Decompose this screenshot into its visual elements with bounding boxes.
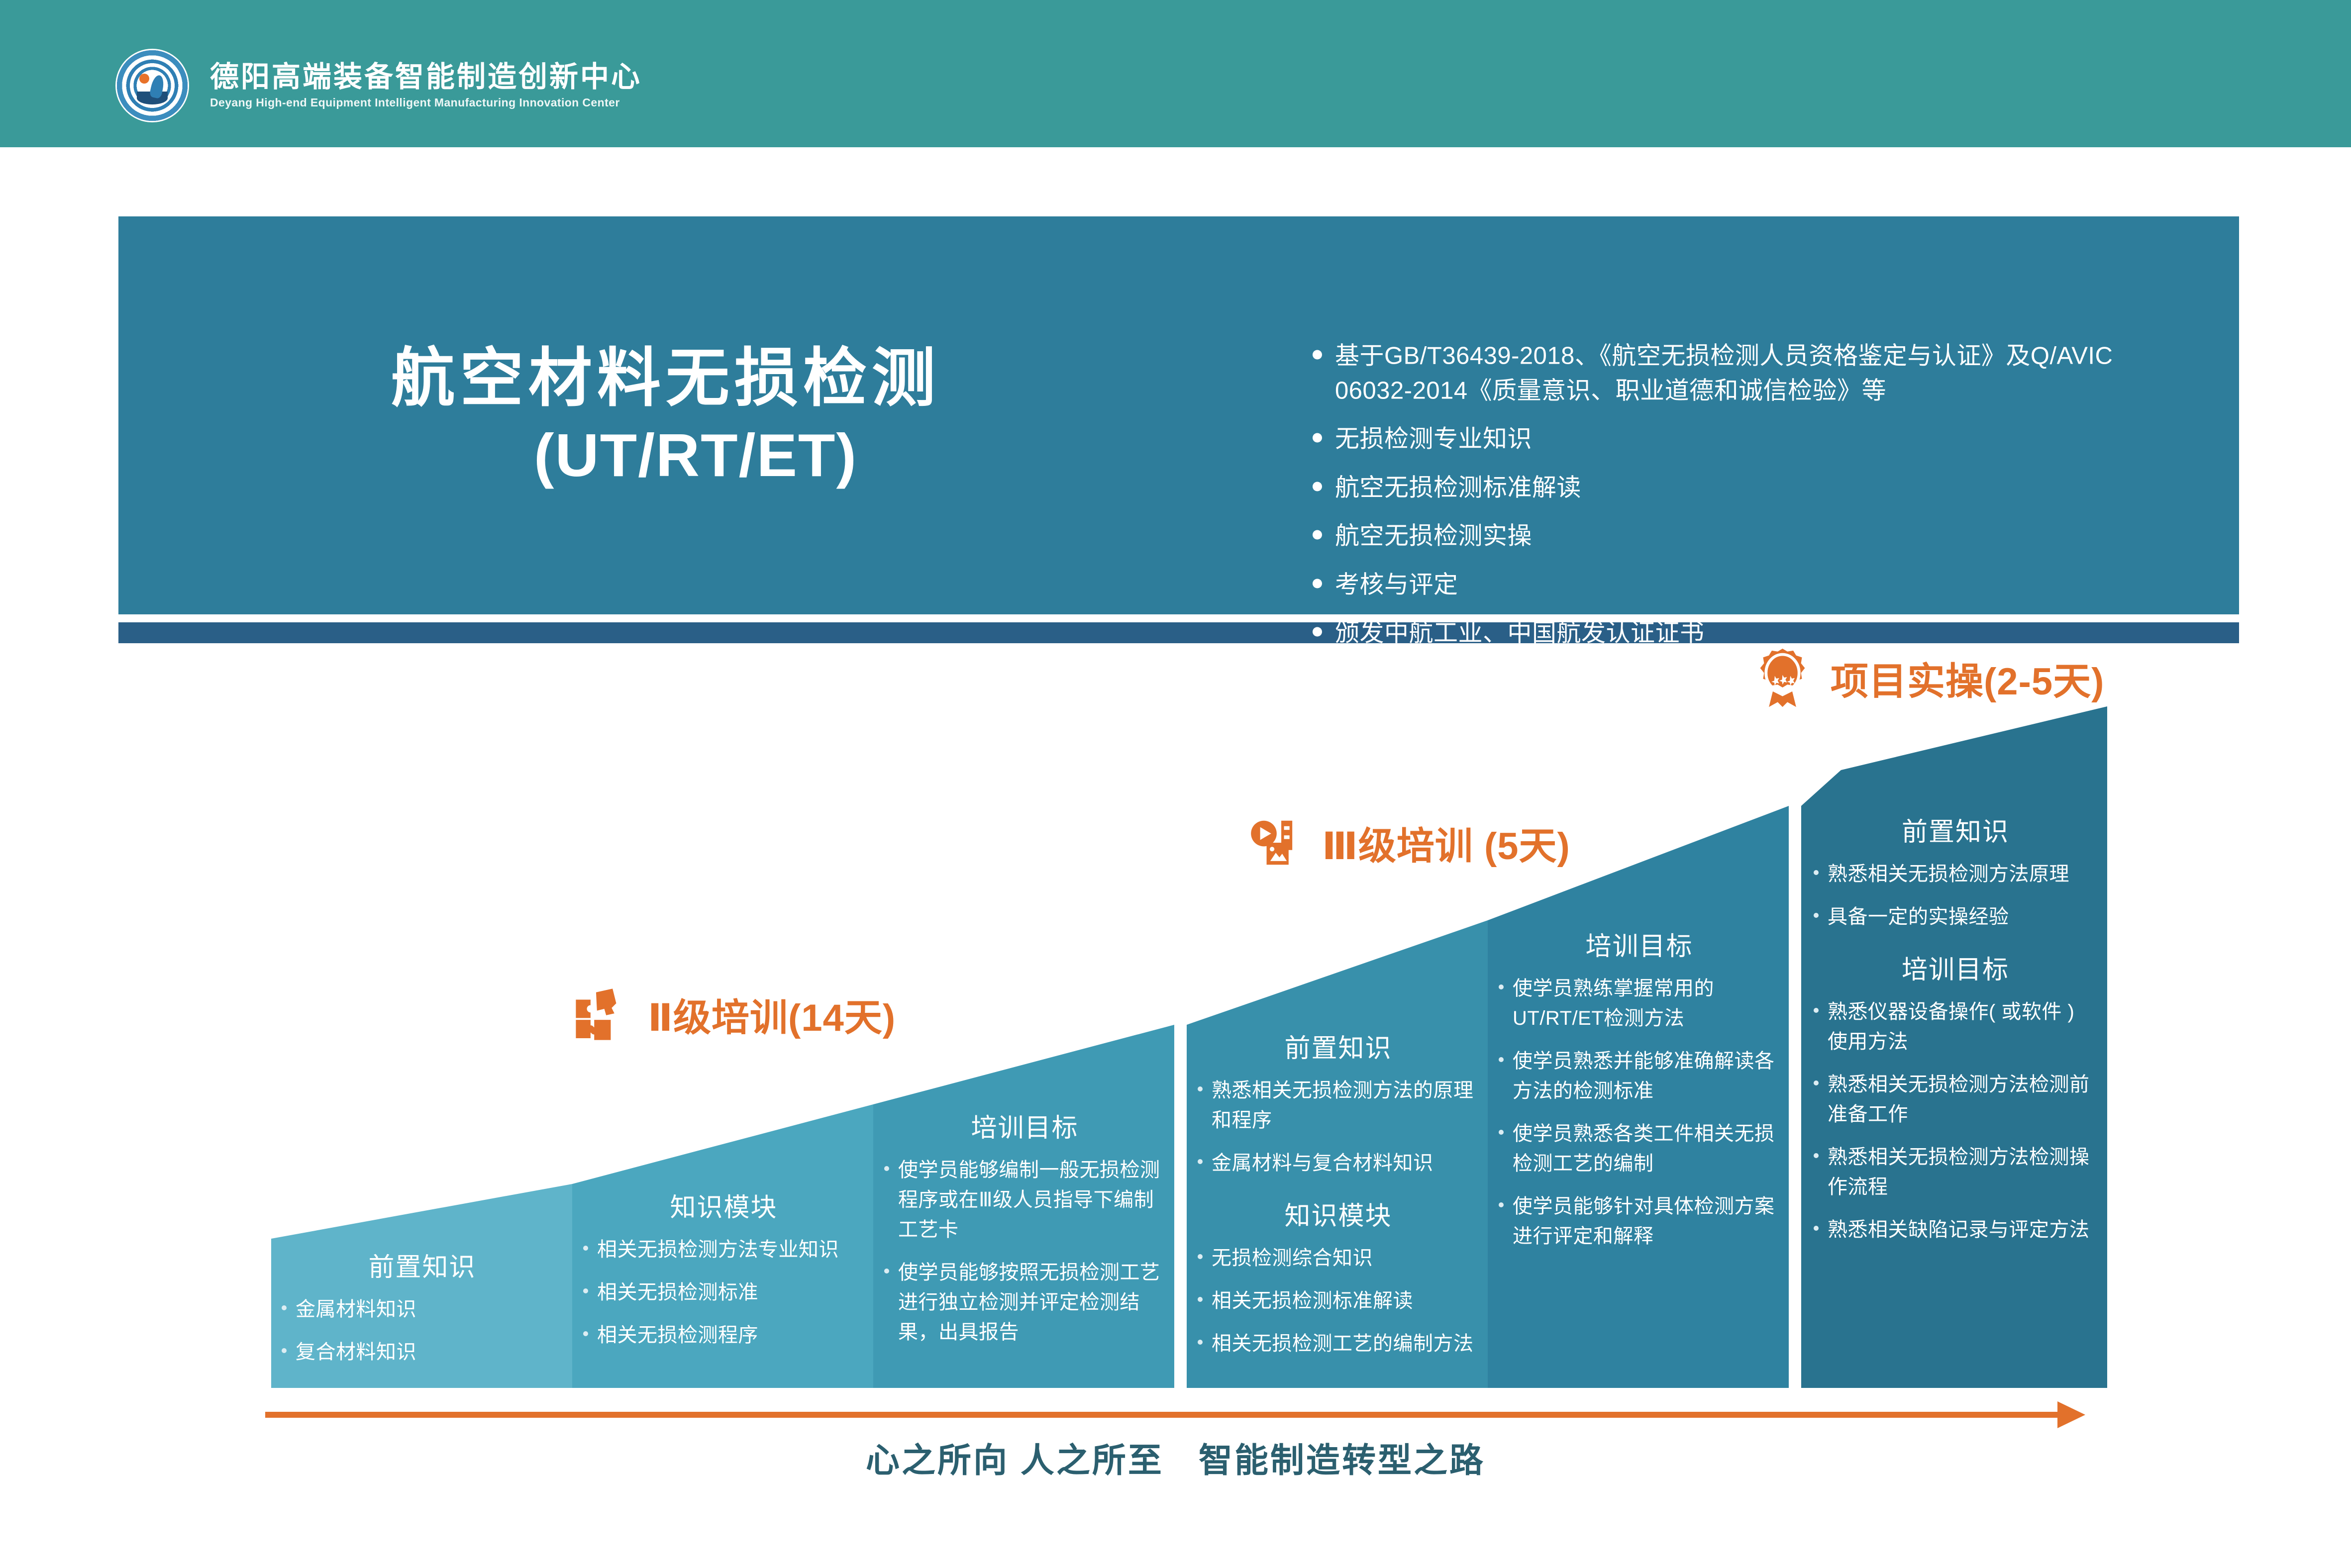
hero-title: 航空材料无损检测 — [391, 339, 940, 418]
panel-item-text: 熟悉相关无损检测方法原理 — [1828, 859, 2069, 889]
tagline-right: 智能制造转型之路 — [1199, 1442, 1485, 1479]
bullet-dot-icon — [1313, 433, 1322, 443]
panel-item-text: 使学员熟悉各类工件相关无损检测工艺的编制 — [1513, 1119, 1780, 1178]
hero-bullet-text: 考核与评定 — [1335, 568, 1458, 602]
header-brand: 德阳高端装备智能制造创新中心 Deyang High-end Equipment… — [115, 49, 642, 122]
list-item: 无损检测综合知识 — [1198, 1243, 1479, 1273]
list-item: 使学员熟练掌握常用的UT/RT/ET检测方法 — [1499, 974, 1780, 1033]
list-item: 相关无损检测标准 — [583, 1277, 864, 1307]
bullet-dot-icon — [583, 1331, 588, 1336]
bullet-dot-icon — [1198, 1086, 1203, 1091]
list-item: 熟悉相关无损检测方法的原理和程序 — [1198, 1076, 1479, 1135]
panel-item-text: 熟悉仪器设备操作( 或软件 ) 使用方法 — [1828, 997, 2097, 1057]
hero-bullet-text: 基于GB/T36439-2018、《航空无损检测人员资格鉴定与认证》及Q/AVI… — [1335, 339, 2188, 408]
bullet-dot-icon — [1814, 870, 1819, 875]
panel-item-text: 使学员熟练掌握常用的UT/RT/ET检测方法 — [1513, 974, 1780, 1033]
list-item: 使学员能够编制一般无损检测程序或在Ⅲ级人员指导下编制工艺卡 — [884, 1155, 1165, 1245]
panel-heading: 知识模块 — [583, 1186, 864, 1224]
bullet-dot-icon — [1198, 1297, 1203, 1302]
stage-label-text: 项目实操(2-5天) — [1831, 651, 2104, 705]
panel-heading: 前置知识 — [1198, 1027, 1479, 1065]
bullet-dot-icon — [1814, 1008, 1819, 1013]
list-item: 使学员熟悉各类工件相关无损检测工艺的编制 — [1499, 1119, 1780, 1178]
list-item: 金属材料与复合材料知识 — [1198, 1148, 1479, 1178]
panel-item-text: 相关无损检测标准解读 — [1212, 1286, 1413, 1316]
list-item: 熟悉相关无损检测方法检测前准备工作 — [1814, 1070, 2097, 1129]
panel-p2: 知识模块 相关无损检测方法专业知识 相关无损检测标准 相关无损检测程序 — [583, 1186, 864, 1350]
panel-item-text: 相关无损检测程序 — [597, 1320, 758, 1350]
list-item: 熟悉相关无损检测方法检测操作流程 — [1814, 1142, 2097, 1202]
list-item: 相关无损检测方法专业知识 — [583, 1235, 864, 1265]
panel-item-text: 无损检测综合知识 — [1212, 1243, 1373, 1273]
list-item: 无损检测专业知识 — [1313, 422, 2188, 457]
stage-label-project-practice: 项目实操(2-5天) — [1751, 647, 2104, 709]
bullet-dot-icon — [1499, 1130, 1504, 1135]
bullet-dot-icon — [1313, 350, 1322, 359]
hero-bullet-list: 基于GB/T36439-2018、《航空无损检测人员资格鉴定与认证》及Q/AVI… — [1313, 339, 2188, 651]
panel-item-text: 相关无损检测标准 — [597, 1277, 758, 1307]
bullet-dot-icon — [1499, 1202, 1504, 1207]
progress-arrow-line — [265, 1412, 2061, 1418]
panel-item-text: 使学员能够针对具体检测方案进行评定和解释 — [1513, 1191, 1780, 1251]
brand-name-cn: 德阳高端装备智能制造创新中心 — [210, 62, 642, 93]
hero-bullet-text: 航空无损检测实操 — [1335, 519, 1532, 554]
bullet-dot-icon — [1313, 530, 1322, 540]
panel-heading: 培训目标 — [884, 1107, 1165, 1144]
panel-item-text: 复合材料知识 — [296, 1337, 416, 1367]
bullet-dot-icon — [282, 1348, 287, 1353]
hero-bullet-text: 无损检测专业知识 — [1335, 422, 1532, 457]
award-medal-icon — [1751, 647, 1814, 709]
panel-heading: 培训目标 — [1499, 925, 1780, 963]
training-path-diagram: Ⅱ级培训(14天) Ⅲ级培训 (5天) 项目实操(2-5天) 前置知识 — [0, 642, 2351, 1418]
list-item: 航空无损检测实操 — [1313, 519, 2188, 554]
panel-p4: 前置知识 熟悉相关无损检测方法的原理和程序 金属材料与复合材料知识 知识模块 无… — [1198, 1027, 1479, 1359]
list-item: 熟悉相关无损检测方法原理 — [1814, 859, 2097, 889]
bullet-dot-icon — [282, 1305, 287, 1310]
stage-label-level-2: Ⅱ级培训(14天) — [572, 985, 896, 1044]
list-item: 相关无损检测程序 — [583, 1320, 864, 1350]
bullet-dot-icon — [1198, 1340, 1203, 1345]
panel-item-text: 使学员熟悉并能够准确解读各方法的检测标准 — [1513, 1046, 1780, 1106]
panel-heading-2: 培训目标 — [1814, 949, 2097, 986]
bullet-dot-icon — [1198, 1254, 1203, 1259]
bullet-dot-icon — [1814, 1153, 1819, 1158]
panel-item-text: 相关无损检测方法专业知识 — [597, 1235, 839, 1265]
seal-leaf-shape — [137, 92, 168, 104]
panel-p1: 前置知识 金属材料知识 复合材料知识 — [282, 1246, 563, 1367]
puzzle-piece-icon — [572, 985, 631, 1044]
panel-item-text: 使学员能够按照无损检测工艺进行独立检测并评定检测结果，出具报告 — [898, 1258, 1165, 1347]
bullet-dot-icon — [1814, 913, 1819, 918]
hero-panel: 航空材料无损检测 (UT/RT/ET) 基于GB/T36439-2018、《航空… — [118, 216, 2239, 614]
hero-bullet-text: 航空无损检测标准解读 — [1335, 471, 1581, 505]
stage-label-level-3: Ⅲ级培训 (5天) — [1246, 813, 1570, 872]
panel-item-text: 相关无损检测工艺的编制方法 — [1212, 1329, 1474, 1359]
hero-banner: 航空材料无损检测 (UT/RT/ET) 基于GB/T36439-2018、《航空… — [118, 216, 2239, 643]
list-item: 使学员能够针对具体检测方案进行评定和解释 — [1499, 1191, 1780, 1251]
arrow-head-icon — [2057, 1401, 2085, 1428]
panel-p3: 培训目标 使学员能够编制一般无损检测程序或在Ⅲ级人员指导下编制工艺卡 使学员能够… — [884, 1107, 1165, 1347]
bullet-dot-icon — [1499, 1057, 1504, 1062]
bullet-dot-icon — [1313, 482, 1322, 491]
bullet-dot-icon — [1499, 984, 1504, 989]
list-item: 考核与评定 — [1313, 568, 2188, 602]
panel-item-text: 金属材料与复合材料知识 — [1212, 1148, 1433, 1178]
list-item: 相关无损检测标准解读 — [1198, 1286, 1479, 1316]
institute-seal-icon — [115, 49, 189, 122]
bullet-dot-icon — [583, 1288, 588, 1293]
list-item: 熟悉相关缺陷记录与评定方法 — [1814, 1215, 2097, 1245]
panel-item-text: 金属材料知识 — [296, 1294, 416, 1324]
bullet-dot-icon — [884, 1166, 889, 1171]
panel-item-text: 熟悉相关无损检测方法检测操作流程 — [1828, 1142, 2097, 1202]
media-presentation-icon — [1246, 813, 1305, 872]
bullet-dot-icon — [1814, 1080, 1819, 1085]
panel-p6: 前置知识 熟悉相关无损检测方法原理 具备一定的实操经验 培训目标 熟悉仪器设备操… — [1814, 811, 2097, 1245]
list-item: 具备一定的实操经验 — [1814, 902, 2097, 932]
bullet-dot-icon — [583, 1246, 588, 1251]
bullet-dot-icon — [1313, 627, 1322, 637]
stage-label-text: Ⅱ级培训(14天) — [648, 987, 896, 1042]
panel-item-text: 具备一定的实操经验 — [1828, 902, 2009, 932]
panel-item-text: 熟悉相关缺陷记录与评定方法 — [1828, 1215, 2090, 1245]
list-item: 基于GB/T36439-2018、《航空无损检测人员资格鉴定与认证》及Q/AVI… — [1313, 339, 2188, 408]
bullet-dot-icon — [1198, 1159, 1203, 1164]
panel-p5: 培训目标 使学员熟练掌握常用的UT/RT/ET检测方法 使学员熟悉并能够准确解读… — [1499, 925, 1780, 1251]
hero-title-block: 航空材料无损检测 (UT/RT/ET) — [118, 216, 1213, 614]
site-header: 德阳高端装备智能制造创新中心 Deyang High-end Equipment… — [0, 0, 2351, 147]
panel-heading-2: 知识模块 — [1198, 1195, 1479, 1232]
list-item: 金属材料知识 — [282, 1294, 563, 1324]
brand-name-en: Deyang High-end Equipment Intelligent Ma… — [210, 96, 642, 109]
bullet-dot-icon — [884, 1269, 889, 1274]
list-item: 航空无损检测标准解读 — [1313, 471, 2188, 505]
bullet-dot-icon — [1814, 1226, 1819, 1231]
hero-subtitle: (UT/RT/ET) — [534, 418, 857, 492]
panel-heading: 前置知识 — [282, 1246, 563, 1283]
panel-item-text: 熟悉相关无损检测方法检测前准备工作 — [1828, 1070, 2097, 1129]
panel-heading: 前置知识 — [1814, 811, 2097, 848]
panel-item-text: 熟悉相关无损检测方法的原理和程序 — [1212, 1076, 1479, 1135]
list-item: 使学员能够按照无损检测工艺进行独立检测并评定检测结果，出具报告 — [884, 1258, 1165, 1347]
list-item: 相关无损检测工艺的编制方法 — [1198, 1329, 1479, 1359]
brand-text-block: 德阳高端装备智能制造创新中心 Deyang High-end Equipment… — [210, 62, 642, 110]
panel-item-text: 使学员能够编制一般无损检测程序或在Ⅲ级人员指导下编制工艺卡 — [898, 1155, 1165, 1245]
tagline-left: 心之所向 人之所至 — [866, 1442, 1164, 1479]
footer-tagline: 心之所向 人之所至智能制造转型之路 — [0, 1433, 2351, 1482]
bullet-dot-icon — [1313, 579, 1322, 588]
list-item: 复合材料知识 — [282, 1337, 563, 1367]
list-item: 熟悉仪器设备操作( 或软件 ) 使用方法 — [1814, 997, 2097, 1057]
list-item: 使学员熟悉并能够准确解读各方法的检测标准 — [1499, 1046, 1780, 1106]
stage-label-text: Ⅲ级培训 (5天) — [1322, 815, 1570, 870]
